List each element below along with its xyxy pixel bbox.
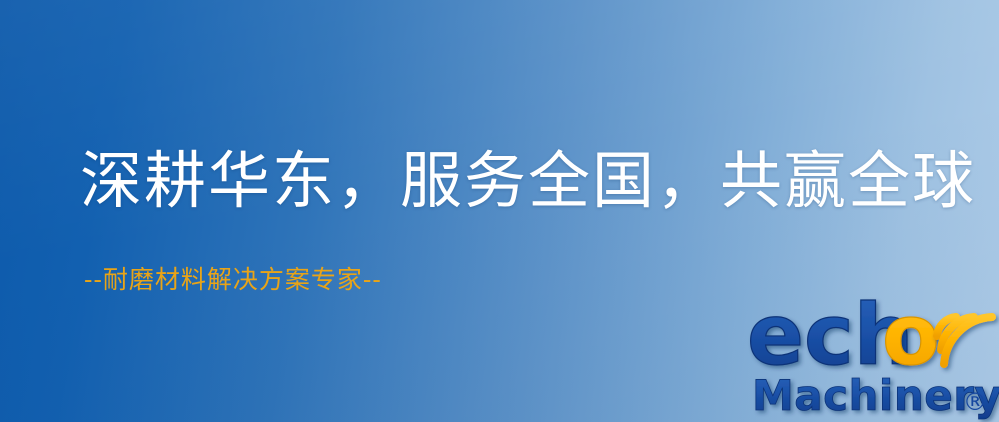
signal-wave-icon bbox=[937, 317, 992, 364]
banner-headline: 深耕华东，服务全国，共赢全球 bbox=[80, 142, 976, 220]
registered-trademark-icon: ® bbox=[963, 388, 987, 416]
hero-banner: 深耕华东，服务全国，共赢全球 --耐磨材料解决方案专家-- bbox=[0, 0, 999, 422]
logo-machinery-text: Machinery bbox=[752, 371, 999, 420]
logo-artwork: ech o Machinery ® bbox=[744, 292, 999, 422]
echo-machinery-logo[interactable]: ech o Machinery ® bbox=[744, 292, 999, 422]
logo-wordmark-machinery: Machinery ® bbox=[752, 371, 999, 420]
banner-subtitle: --耐磨材料解决方案专家-- bbox=[84, 264, 382, 296]
